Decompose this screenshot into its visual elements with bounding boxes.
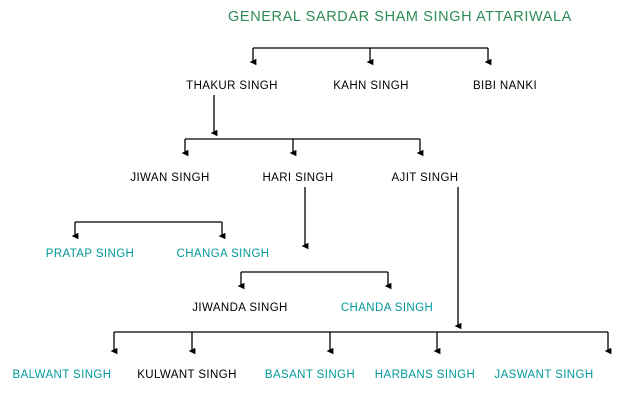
node-thakur-singh[interactable]: THAKUR SINGH — [186, 80, 278, 92]
node-harbans-singh[interactable]: HARBANS SINGH — [375, 369, 475, 381]
node-jiwanda-singh[interactable]: JIWANDA SINGH — [192, 302, 288, 314]
node-jiwan-singh[interactable]: JIWAN SINGH — [130, 172, 209, 184]
node-basant-singh[interactable]: BASANT SINGH — [265, 369, 355, 381]
node-ajit-singh[interactable]: AJIT SINGH — [391, 172, 458, 184]
diagram-title: GENERAL SARDAR SHAM SINGH ATTARIWALA — [228, 9, 572, 25]
connector-lines — [0, 0, 634, 405]
node-chanda-singh[interactable]: CHANDA SINGH — [341, 302, 433, 314]
connector-root-to-generation-1 — [253, 48, 488, 62]
node-pratap-singh[interactable]: PRATAP SINGH — [46, 248, 135, 260]
connector-jiwan-to-generation-3 — [75, 222, 222, 236]
family-tree-diagram: GENERAL SARDAR SHAM SINGH ATTARIWALA THA… — [0, 0, 634, 405]
connector-hari-to-generation-4 — [241, 272, 388, 286]
node-kahn-singh[interactable]: KAHN SINGH — [333, 80, 409, 92]
node-kulwant-singh[interactable]: KULWANT SINGH — [137, 369, 237, 381]
node-bibi-nanki[interactable]: BIBI NANKI — [473, 80, 537, 92]
node-jaswant-singh[interactable]: JASWANT SINGH — [494, 369, 593, 381]
node-hari-singh[interactable]: HARI SINGH — [262, 172, 333, 184]
node-changa-singh[interactable]: CHANGA SINGH — [177, 248, 270, 260]
connector-thakur-to-generation-2 — [185, 139, 420, 153]
connector-bottom-generation-5 — [114, 332, 608, 351]
node-balwant-singh[interactable]: BALWANT SINGH — [13, 369, 112, 381]
